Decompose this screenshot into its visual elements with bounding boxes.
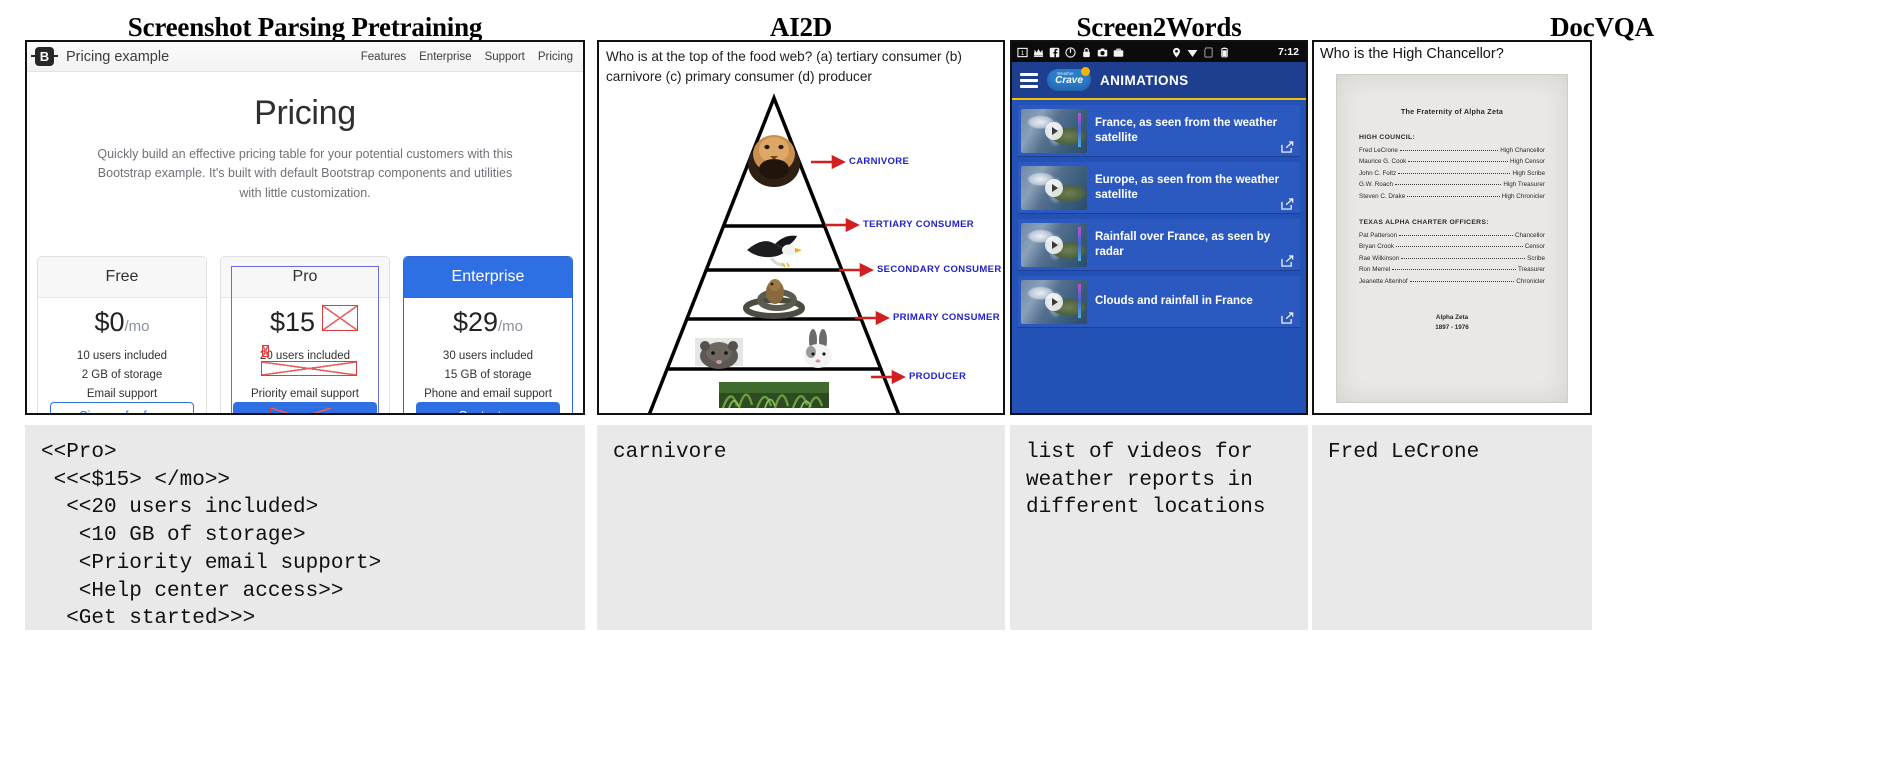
list-item[interactable]: Europe, as seen from the weather satelli… <box>1018 162 1300 214</box>
panel-screen2words: 1 7:12 Weather Crave ANIMATIONS <box>1010 40 1308 415</box>
pyramid-svg <box>599 90 1005 415</box>
location-icon <box>1171 47 1182 58</box>
hamburger-icon[interactable] <box>1020 73 1038 88</box>
person-name: John C. Foltz <box>1359 170 1396 179</box>
leader-dots <box>1396 246 1523 247</box>
pyramid-label-tertiary-consumer: TERTIARY CONSUMER <box>863 219 974 230</box>
sim-icon: 1 <box>1017 47 1028 58</box>
share-icon[interactable] <box>1281 198 1294 210</box>
pricing-card-pro: Pro $15/mo 20 users included 10 GB of st… <box>220 256 390 415</box>
app-bar-title: ANIMATIONS <box>1100 73 1189 88</box>
bootstrap-logo-icon: B <box>35 47 54 66</box>
video-thumbnail <box>1021 109 1087 153</box>
table-row: Fred LeCroneHigh Chancellor <box>1359 147 1545 156</box>
play-icon[interactable] <box>1045 179 1063 197</box>
person-name: Rae Wilkinson <box>1359 255 1399 264</box>
scanned-document: The Fraternity of Alpha Zeta HIGH COUNCI… <box>1336 74 1568 403</box>
price-period: /mo <box>498 318 523 335</box>
card-body-enterprise: $29/mo 30 users included 15 GB of storag… <box>404 298 572 415</box>
share-icon[interactable] <box>1281 255 1294 267</box>
video-thumbnail <box>1021 166 1087 210</box>
table-row: Bryan CrookCensor <box>1359 243 1545 252</box>
bootstrap-navbar: B Pricing example Features Enterprise Su… <box>27 42 583 72</box>
feature-item: Phone and email support <box>412 385 564 404</box>
leader-dots <box>1395 184 1501 185</box>
cta-button-sign-up-for-free[interactable]: Sign up for free <box>50 402 194 415</box>
card-title-enterprise: Enterprise <box>404 257 572 298</box>
feature-item: 30 users included <box>412 347 564 366</box>
person-role: Treasurer <box>1518 266 1545 275</box>
battery-icon <box>1219 47 1230 58</box>
nav-link-support[interactable]: Support <box>485 51 525 63</box>
play-icon[interactable] <box>1045 122 1063 140</box>
card-price-free: $0/mo <box>46 308 198 336</box>
panel-screenshot-parsing: B Pricing example Features Enterprise Su… <box>25 40 585 415</box>
column-title-screenshot-parsing: Screenshot Parsing Pretraining <box>25 12 585 43</box>
person-role: Scribe <box>1527 255 1545 264</box>
svg-text:1: 1 <box>1021 50 1025 56</box>
power-icon <box>1065 47 1076 58</box>
logo-small-text: Weather <box>1057 71 1074 76</box>
person-role: Censor <box>1525 243 1545 252</box>
column-title-docvqa: DocVQA <box>1312 12 1892 43</box>
animations-video-list: France, as seen from the weather satelli… <box>1012 100 1306 413</box>
person-name: Bryan Crook <box>1359 243 1394 252</box>
mobile-status-bar: 1 7:12 <box>1012 42 1306 62</box>
person-role: High Treasurer <box>1503 181 1545 190</box>
leader-dots <box>1400 150 1498 151</box>
person-role: High Chancellor <box>1500 147 1545 156</box>
caption-screen2words: list of videos for weather reports in di… <box>1010 425 1308 630</box>
card-title-free: Free <box>38 257 206 298</box>
page-title: Pricing <box>27 94 583 133</box>
section-heading-texas-alpha-charter-officers: TEXAS ALPHA CHARTER OFFICERS: <box>1359 218 1545 228</box>
person-role: Chronicler <box>1516 278 1545 287</box>
weather-crave-logo-icon: Weather Crave <box>1047 69 1091 91</box>
leader-dots <box>1407 196 1499 197</box>
table-row: Steven C. DrakeHigh Chronicler <box>1359 193 1545 202</box>
card-body-pro: $15/mo 20 users included 10 GB of storag… <box>221 298 389 415</box>
nav-link-pricing[interactable]: Pricing <box>538 51 573 63</box>
nav-link-enterprise[interactable]: Enterprise <box>419 51 471 63</box>
camera-icon <box>1097 47 1108 58</box>
mask-feature-storage <box>261 361 357 376</box>
pyramid-label-primary-consumer: PRIMARY CONSUMER <box>893 312 1000 323</box>
person-name: Ron Merrel <box>1359 266 1390 275</box>
list-item-title: France, as seen from the weather satelli… <box>1095 116 1294 146</box>
leader-dots <box>1392 269 1516 270</box>
briefcase-icon <box>1113 47 1124 58</box>
person-name: Fred LeCrone <box>1359 147 1398 156</box>
pricing-card-enterprise: Enterprise $29/mo 30 users included 15 G… <box>403 256 573 415</box>
footer-line-2: 1897 - 1976 <box>1359 323 1545 333</box>
lock-icon <box>1081 47 1092 58</box>
document-footer: Alpha Zeta 1897 - 1976 <box>1359 313 1545 333</box>
hero-lead-text: Quickly build an effective pricing table… <box>90 145 520 203</box>
feature-item: Priority email support <box>229 385 381 404</box>
video-thumbnail <box>1021 223 1087 267</box>
list-item-title: Clouds and rainfall in France <box>1095 294 1294 309</box>
leader-dots <box>1399 235 1513 236</box>
pricing-hero: Pricing Quickly build an effective prici… <box>27 72 583 203</box>
table-row: Jeanette AltenhofChronicler <box>1359 278 1545 287</box>
status-bar-time: 7:12 <box>1278 46 1301 58</box>
caption-screenshot-parsing: <<Pro> <<<$15> </mo>> <<20 users include… <box>25 425 585 630</box>
feature-item: 15 GB of storage <box>412 366 564 385</box>
logo-main-text: Crave <box>1055 75 1083 86</box>
card-price-pro: $15/mo <box>229 308 381 336</box>
leader-dots <box>1401 258 1525 259</box>
list-item[interactable]: Clouds and rainfall in France <box>1018 276 1300 328</box>
video-thumbnail <box>1021 280 1087 324</box>
person-role: High Chronicler <box>1502 193 1545 202</box>
navbar-links: Features Enterprise Support Pricing <box>361 51 573 63</box>
facebook-icon <box>1049 47 1060 58</box>
section-heading-high-council: HIGH COUNCIL: <box>1359 133 1545 143</box>
feature-item: 2 GB of storage <box>46 366 198 385</box>
list-item[interactable]: Rainfall over France, as seen by radar <box>1018 219 1300 271</box>
pyramid-label-producer: PRODUCER <box>909 371 966 382</box>
person-role: High Censor <box>1510 158 1545 167</box>
table-row: G.W. RoachHigh Treasurer <box>1359 181 1545 190</box>
pricing-cards: Free $0/mo 10 users included 2 GB of sto… <box>37 256 573 415</box>
person-name: Steven C. Drake <box>1359 193 1405 202</box>
list-item[interactable]: France, as seen from the weather satelli… <box>1018 105 1300 157</box>
share-icon[interactable] <box>1281 141 1294 153</box>
column-title-ai2d: AI2D <box>597 12 1005 43</box>
pyramid-label-secondary-consumer: SECONDARY CONSUMER <box>877 264 1002 275</box>
leader-dots <box>1408 161 1508 162</box>
food-pyramid-diagram: CARNIVORE TERTIARY CONSUMER SECONDARY CO… <box>599 90 1005 415</box>
caption-ai2d: carnivore <box>597 425 1005 630</box>
ai2d-question: Who is at the top of the food web? (a) t… <box>606 47 996 86</box>
wifi-icon <box>1187 47 1198 58</box>
document-title: The Fraternity of Alpha Zeta <box>1359 107 1545 117</box>
price-amount: $15 <box>270 307 315 337</box>
table-row: John C. FoltzHigh Scribe <box>1359 170 1545 179</box>
crown-icon <box>1033 47 1044 58</box>
share-icon[interactable] <box>1281 312 1294 324</box>
person-role: Chancellor <box>1515 232 1545 241</box>
table-row: Rae WilkinsonScribe <box>1359 255 1545 264</box>
caption-docvqa: Fred LeCrone <box>1312 425 1592 630</box>
list-item-title: Rainfall over France, as seen by radar <box>1095 230 1294 260</box>
person-name: Jeanette Altenhof <box>1359 278 1408 287</box>
table-row: Pat PattersonChancellor <box>1359 232 1545 241</box>
price-amount: $29 <box>453 307 498 337</box>
sun-icon <box>1081 67 1090 76</box>
figure-root: Screenshot Parsing Pretraining AI2D Scre… <box>0 0 1896 782</box>
panel-ai2d: Who is at the top of the food web? (a) t… <box>597 40 1005 415</box>
mask-price-period <box>322 305 358 331</box>
table-row: Ron MerrelTreasurer <box>1359 266 1545 275</box>
mobile-app-bar: Weather Crave ANIMATIONS <box>1012 62 1306 100</box>
pricing-card-free: Free $0/mo 10 users included 2 GB of sto… <box>37 256 207 415</box>
price-period: /mo <box>125 318 150 335</box>
person-name: Maurice G. Cook <box>1359 158 1406 167</box>
navbar-brand[interactable]: Pricing example <box>66 49 169 65</box>
person-name: Pat Patterson <box>1359 232 1397 241</box>
footer-line-1: Alpha Zeta <box>1359 313 1545 323</box>
play-icon[interactable] <box>1045 293 1063 311</box>
feature-item: 10 users included <box>46 347 198 366</box>
sd-card-icon <box>1203 47 1214 58</box>
feature-item: Email support <box>46 385 198 404</box>
mask-cta-button <box>270 407 332 415</box>
leader-dots <box>1398 173 1510 174</box>
card-body-free: $0/mo 10 users included 2 GB of storage … <box>38 298 206 415</box>
pyramid-label-carnivore: CARNIVORE <box>849 156 909 167</box>
mask-feature-users <box>262 345 269 357</box>
column-title-screen2words: Screen2Words <box>1010 12 1308 43</box>
person-role: High Scribe <box>1512 170 1545 179</box>
rat-image <box>695 338 743 369</box>
panel-docvqa: Who is the High Chancellor? The Fraterni… <box>1312 40 1592 415</box>
grass-image <box>719 382 829 408</box>
list-item-title: Europe, as seen from the weather satelli… <box>1095 173 1294 203</box>
nav-link-features[interactable]: Features <box>361 51 406 63</box>
table-row: Maurice G. CookHigh Censor <box>1359 158 1545 167</box>
cta-button-contact-us[interactable]: Contact us <box>416 402 560 415</box>
docvqa-question: Who is the High Chancellor? <box>1320 46 1584 62</box>
price-amount: $0 <box>94 307 124 337</box>
leader-dots <box>1410 281 1515 282</box>
play-icon[interactable] <box>1045 236 1063 254</box>
card-price-enterprise: $29/mo <box>412 308 564 336</box>
card-title-pro: Pro <box>221 257 389 298</box>
person-name: G.W. Roach <box>1359 181 1393 190</box>
